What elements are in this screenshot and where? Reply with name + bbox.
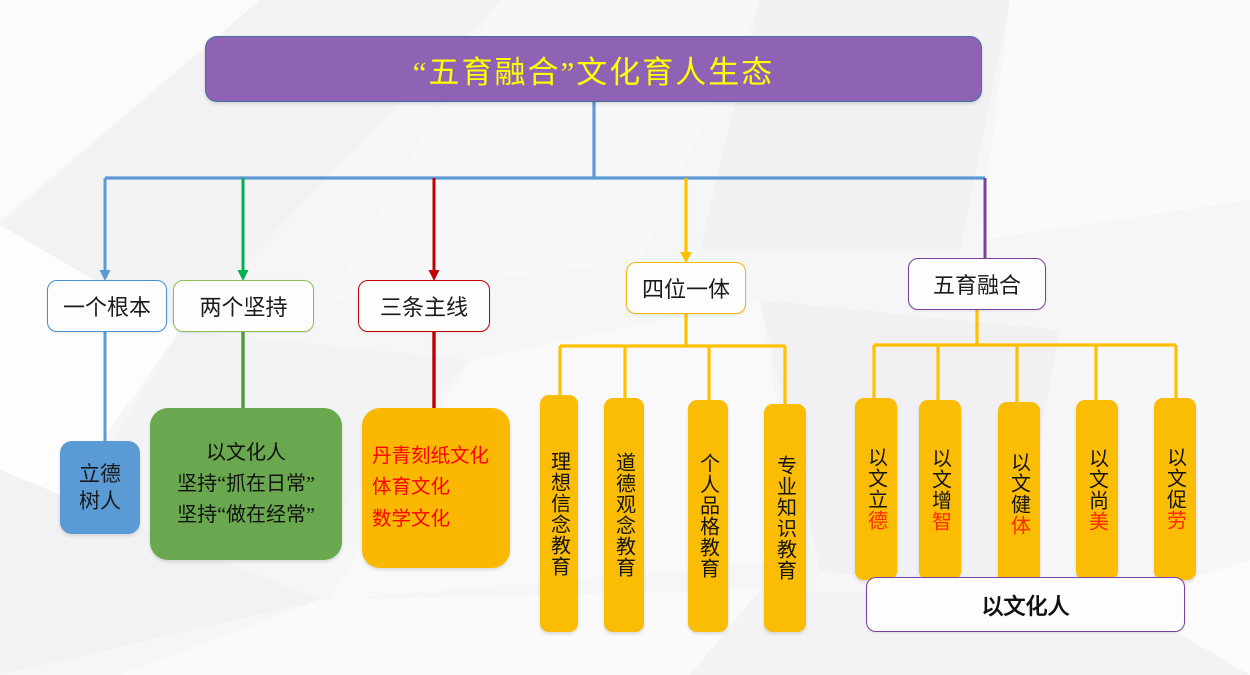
pillar-five-fusion-1-highlight: 德: [865, 510, 887, 531]
pillar-five-fusion-2-highlight: 智: [929, 511, 951, 532]
pillar-five-fusion-1[interactable]: 以文立德: [855, 398, 897, 580]
pillar-five-fusion-3[interactable]: 以文健体: [998, 402, 1040, 586]
leaf-one-root[interactable]: 立德 树人: [60, 441, 140, 534]
leaf-two-persist-line1: 以文化人: [177, 438, 315, 469]
diagram-canvas: “五育融合”文化育人生态 一个根本 两个坚持 三条主线 四位一体 五育融合 立德…: [0, 0, 1250, 675]
leaf-three-lines-line2: 体育文化: [372, 472, 510, 503]
pillar-four-in-one-3[interactable]: 个人品格教育: [688, 400, 728, 632]
pillar-four-in-one-2[interactable]: 道德观念教育: [604, 398, 644, 632]
diagram-title: “五育融合”文化育人生态: [205, 36, 982, 102]
pillar-five-fusion-2-prefix: 以文增: [929, 448, 951, 511]
leaf-one-root-line2: 树人: [79, 488, 121, 514]
pillar-five-fusion-5-prefix: 以文促: [1164, 447, 1186, 510]
pillar-five-fusion-3-prefix: 以文健: [1008, 452, 1030, 515]
leaf-three-lines-line3: 数学文化: [372, 504, 510, 535]
leaf-three-lines-line1: 丹青刻纸文化: [372, 441, 510, 472]
leaf-two-persist-line2: 坚持“抓在日常”: [177, 469, 315, 500]
leaf-two-persist-line3: 坚持“做在经常”: [177, 500, 315, 531]
leaf-one-root-line1: 立德: [79, 461, 121, 487]
five-fusion-footer[interactable]: 以文化人: [866, 577, 1185, 632]
pillar-four-in-one-4[interactable]: 专业知识教育: [764, 404, 806, 632]
leaf-three-lines[interactable]: 丹青刻纸文化 体育文化 数学文化: [362, 408, 510, 568]
branch-label-three-lines[interactable]: 三条主线: [358, 280, 490, 332]
leaf-two-persist[interactable]: 以文化人 坚持“抓在日常” 坚持“做在经常”: [150, 408, 342, 560]
pillar-five-fusion-4-prefix: 以文尚: [1086, 448, 1108, 511]
branch-label-one-root[interactable]: 一个根本: [47, 280, 167, 332]
pillar-four-in-one-1[interactable]: 理想信念教育: [540, 395, 578, 632]
pillar-five-fusion-1-prefix: 以文立: [865, 447, 887, 510]
pillar-five-fusion-4[interactable]: 以文尚美: [1076, 400, 1118, 580]
branch-label-four-in-one[interactable]: 四位一体: [626, 262, 746, 314]
pillar-five-fusion-2[interactable]: 以文增智: [919, 400, 961, 580]
pillar-five-fusion-3-highlight: 体: [1008, 515, 1030, 536]
pillar-five-fusion-5-highlight: 劳: [1164, 510, 1186, 531]
branch-label-two-persist[interactable]: 两个坚持: [173, 280, 314, 332]
pillar-five-fusion-4-highlight: 美: [1086, 511, 1108, 532]
branch-label-five-fusion[interactable]: 五育融合: [908, 258, 1046, 310]
pillar-five-fusion-5[interactable]: 以文促劳: [1154, 398, 1196, 580]
